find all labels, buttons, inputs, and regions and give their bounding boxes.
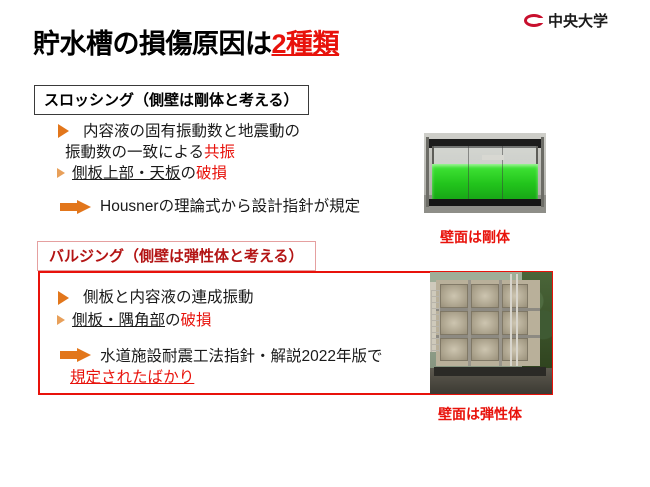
conclusion-row-bulging: 水道施設耐震工法指針・解説2022年版で bbox=[60, 345, 382, 368]
tank-panel bbox=[440, 338, 468, 361]
access-ladder bbox=[431, 290, 440, 352]
bullet-row-sloshing-1: 内容液の固有振動数と地震動の bbox=[58, 121, 300, 143]
tank-horizontal-rail bbox=[436, 308, 540, 311]
tank-mullion-1 bbox=[468, 146, 469, 200]
bullet-particle: の bbox=[181, 165, 197, 182]
bullet-line-2: 振動数の一致による bbox=[65, 144, 204, 161]
conclusion-row-bulging-cont: 規定されたばかり bbox=[70, 368, 194, 388]
bullet-text-bulging-2: 側板・隅角部の破損 bbox=[72, 311, 212, 331]
photo-caption-rigid: 壁面は剛体 bbox=[440, 227, 510, 247]
chuo-oval-mark-icon bbox=[524, 14, 544, 27]
tank-vertical-rail bbox=[499, 280, 502, 366]
page-title-highlight: 2種類 bbox=[272, 29, 340, 59]
block-arrow-head bbox=[77, 200, 91, 214]
green-liquid bbox=[432, 164, 538, 200]
triangle-bullet-icon bbox=[58, 291, 69, 305]
bullet-row-sloshing-2: 側板上部・天板の破損 bbox=[57, 164, 227, 184]
block-arrow-head bbox=[77, 348, 91, 362]
bullet-particle: の bbox=[165, 312, 181, 329]
tank-horizontal-rail bbox=[436, 335, 540, 338]
bullet-text-sloshing-1: 内容液の固有振動数と地震動の bbox=[83, 121, 300, 143]
slide-canvas: 中央大学 貯水槽の損傷原因は2種類 スロッシング（側壁は剛体と考える） 内容液の… bbox=[0, 0, 650, 487]
tank-label-plate bbox=[482, 155, 504, 160]
tank-panel bbox=[440, 311, 468, 335]
section-header-sloshing-label: スロッシング（側壁は剛体と考える） bbox=[44, 89, 299, 110]
conclusion-text-sloshing: Housnerの理論式から設計指針が規定 bbox=[100, 197, 360, 217]
bullet-row-bulging-2: 側板・隅角部の破損 bbox=[57, 311, 212, 331]
tank-panel bbox=[502, 311, 528, 335]
section-header-bulging: バルジング（側壁は弾性体と考える） bbox=[37, 241, 316, 271]
bullet-row-bulging-1: 側板と内容液の連成振動 bbox=[58, 288, 254, 308]
bullet-damage-emphasis: 破損 bbox=[181, 312, 212, 329]
tank-panel bbox=[440, 284, 468, 308]
elastic-wall-tank-photo bbox=[430, 272, 552, 394]
university-logo: 中央大学 bbox=[524, 10, 608, 31]
vertical-pipe bbox=[516, 274, 518, 366]
bullet-underlined-term: 側板・隅角部 bbox=[72, 312, 165, 329]
conclusion-row-sloshing: Housnerの理論式から設計指針が規定 bbox=[60, 197, 360, 217]
photo-caption-elastic: 壁面は弾性体 bbox=[438, 404, 522, 424]
bullet-underlined-term: 側板上部・天板 bbox=[72, 165, 181, 182]
tank-scene-illustration bbox=[424, 133, 546, 213]
triangle-bullet-small-icon bbox=[57, 315, 65, 325]
section-header-sloshing: スロッシング（側壁は剛体と考える） bbox=[34, 85, 309, 115]
bullet-line-1: 内容液の固有振動数と地震動の bbox=[83, 123, 300, 140]
bullet-damage-emphasis: 破損 bbox=[196, 165, 227, 182]
bullet-text-sloshing-2: 側板上部・天板の破損 bbox=[72, 164, 227, 184]
bullet-row-sloshing-1-cont: 振動数の一致による共振 bbox=[65, 143, 235, 163]
page-title-main: 貯水槽の損傷原因は bbox=[33, 29, 272, 59]
frp-tank-scene-illustration bbox=[430, 272, 552, 394]
vertical-pipe bbox=[510, 274, 512, 366]
bullet-text-sloshing-1-cont: 振動数の一致による共振 bbox=[65, 143, 235, 163]
tank-panel bbox=[471, 311, 499, 335]
conclusion-line-1: 水道施設耐震工法指針・解説2022年版で bbox=[100, 348, 382, 365]
page-title: 貯水槽の損傷原因は2種類 bbox=[33, 22, 339, 61]
support-post-right bbox=[541, 137, 544, 207]
triangle-bullet-small-icon bbox=[57, 168, 65, 178]
conclusion-text-bulging: 水道施設耐震工法指針・解説2022年版で bbox=[100, 345, 382, 368]
block-arrow-icon bbox=[60, 348, 92, 362]
triangle-bullet-icon bbox=[58, 124, 69, 138]
rigid-wall-tank-photo bbox=[424, 133, 546, 213]
block-arrow-icon bbox=[60, 200, 92, 214]
bullet-line-2-emphasis: 共振 bbox=[204, 144, 235, 161]
tank-panel bbox=[502, 284, 528, 308]
tank-panel bbox=[471, 284, 499, 308]
conclusion-line-2-emphasis: 規定されたばかり bbox=[70, 368, 194, 388]
tank-bottom-frame bbox=[429, 199, 541, 206]
tank-panel bbox=[471, 338, 499, 361]
tank-panel bbox=[502, 338, 528, 361]
tank-vertical-rail bbox=[468, 280, 471, 366]
bullet-text-bulging-1: 側板と内容液の連成振動 bbox=[83, 288, 254, 308]
university-logo-label: 中央大学 bbox=[548, 10, 608, 31]
tank-base-beam bbox=[434, 367, 546, 376]
section-header-bulging-label: バルジング（側壁は弾性体と考える） bbox=[49, 245, 304, 266]
